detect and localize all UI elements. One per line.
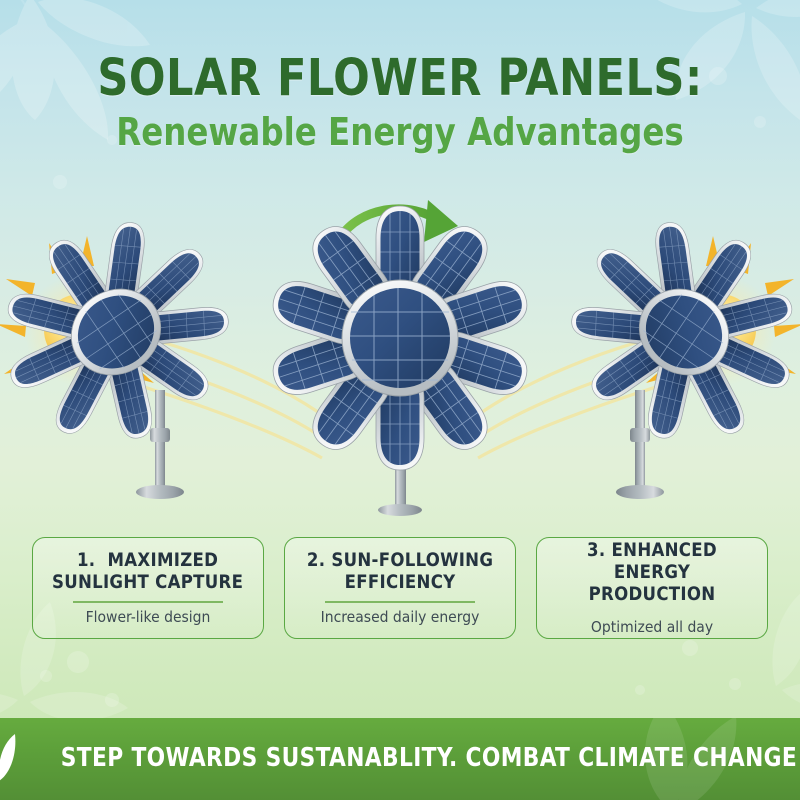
footer-banner-content: STEP TOWARDS SUSTANABLITY. COMBAT CLIMAT… (0, 733, 800, 783)
page-subtitle: Renewable Energy Advantages (20, 112, 780, 154)
center-flower-head (267, 206, 533, 470)
card-2-number: 2. (307, 549, 325, 571)
card-1-heading-line2: SUNLIGHT CAPTURE (52, 571, 243, 593)
card-2-heading-line1: SUN-FOLLOWING (331, 549, 493, 571)
left-pole-base (136, 485, 184, 499)
card-2-divider (325, 601, 475, 602)
card-1-heading-line1: MAXIMIZED (108, 549, 219, 571)
leaf-icon (0, 733, 17, 783)
footer-tagline: STEP TOWARDS SUSTANABLITY. COMBAT CLIMAT… (61, 743, 797, 773)
card-3-heading-line2: PRODUCTION (589, 583, 716, 605)
card-3-number: 3. (587, 539, 605, 561)
card-1-number: 1. (77, 549, 95, 571)
card-2-heading-line2: EFFICIENCY (345, 571, 456, 593)
card-1-divider (73, 601, 223, 602)
advantage-cards: 1. MAXIMIZED SUNLIGHT CAPTURE Flower-lik… (32, 537, 768, 639)
card-3-heading: 3. ENHANCED ENERGY PRODUCTION (548, 539, 756, 605)
card-1-heading: 1. MAXIMIZED SUNLIGHT CAPTURE (52, 549, 243, 593)
card-2-caption: Increased daily energy (321, 609, 480, 626)
center-pole-base (378, 504, 422, 516)
left-solar-flower (0, 178, 271, 499)
infographic-canvas: SOLAR FLOWER PANELS: Renewable Energy Ad… (0, 0, 800, 800)
page-title-block: SOLAR FLOWER PANELS: Renewable Energy Ad… (0, 52, 800, 153)
advantage-card-3[interactable]: 3. ENHANCED ENERGY PRODUCTION Optimized … (536, 537, 768, 639)
advantage-card-1[interactable]: 1. MAXIMIZED SUNLIGHT CAPTURE Flower-lik… (32, 537, 264, 639)
page-title: SOLAR FLOWER PANELS: (24, 52, 776, 106)
footer-banner: STEP TOWARDS SUSTANABLITY. COMBAT CLIMAT… (0, 718, 800, 800)
card-1-caption: Flower-like design (86, 609, 211, 626)
right-pole-base (616, 485, 664, 499)
leaf-watermark-bottom-right (772, 592, 800, 710)
solar-flower-illustration (0, 180, 800, 540)
card-3-heading-line1: ENHANCED ENERGY (612, 539, 717, 583)
right-solar-flower (529, 178, 800, 499)
card-3-caption: Optimized all day (591, 619, 713, 636)
advantage-card-2[interactable]: 2. SUN-FOLLOWING EFFICIENCY Increased da… (284, 537, 516, 639)
center-solar-flower (267, 200, 533, 516)
card-2-heading: 2. SUN-FOLLOWING EFFICIENCY (307, 549, 493, 593)
